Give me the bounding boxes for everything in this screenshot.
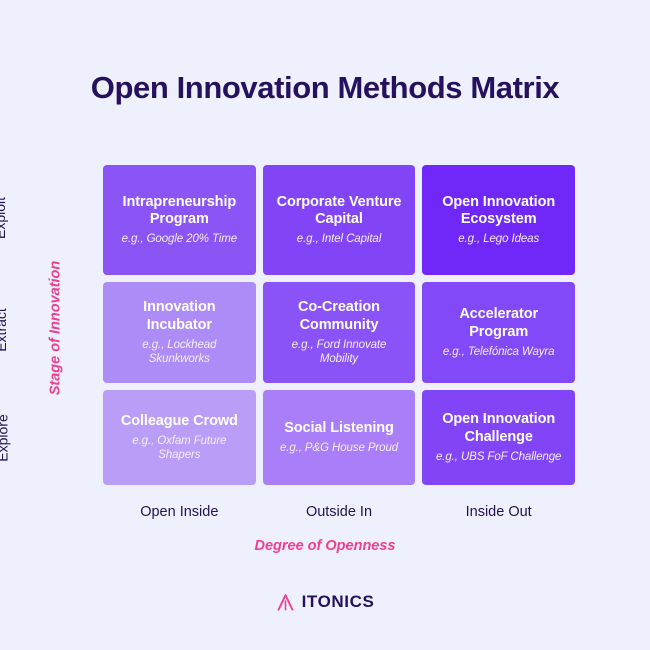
cell-example: e.g., Google 20% Time — [122, 232, 237, 246]
y-axis-tick-exploit: Exploit — [0, 197, 8, 239]
y-axis-tick-explore: Explore — [0, 414, 11, 461]
x-axis-ticks: Open Inside Outside In Inside Out — [103, 504, 575, 520]
brand-logo: ITONICS — [0, 592, 650, 612]
cell-example: e.g., Ford Innovate Mobility — [273, 338, 406, 366]
cell-title: Innovation Incubator — [113, 299, 246, 334]
cell-title: Co-Creation Community — [273, 299, 406, 334]
y-axis-tick-extract: Extract — [0, 308, 9, 352]
x-axis-tick-outside-in: Outside In — [263, 504, 416, 520]
cell-example: e.g., Telefónica Wayra — [443, 345, 555, 359]
x-axis-tick-inside-out: Inside Out — [422, 504, 575, 520]
cell-title: Social Listening — [284, 420, 394, 438]
matrix-cell-exploit-open-inside[interactable]: Intrapreneurship Program e.g., Google 20… — [103, 165, 256, 275]
matrix-cell-extract-inside-out[interactable]: Accelerator Program e.g., Telefónica Way… — [422, 282, 575, 383]
cell-title: Accelerator Program — [432, 306, 565, 341]
cell-example: e.g., UBS FoF Challenge — [436, 450, 561, 464]
matrix-grid: Intrapreneurship Program e.g., Google 20… — [103, 165, 575, 481]
matrix-cell-extract-open-inside[interactable]: Innovation Incubator e.g., Lockhead Skun… — [103, 282, 256, 383]
matrix-cell-extract-outside-in[interactable]: Co-Creation Community e.g., Ford Innovat… — [263, 282, 416, 383]
matrix-chart: Intrapreneurship Program e.g., Google 20… — [103, 165, 575, 481]
cell-example: e.g., Lego Ideas — [458, 232, 539, 246]
x-axis-title: Degree of Openness — [0, 538, 650, 554]
matrix-cell-exploit-inside-out[interactable]: Open Innovation Ecosystem e.g., Lego Ide… — [422, 165, 575, 275]
cell-title: Open Innovation Challenge — [432, 411, 565, 446]
cell-title: Corporate Venture Capital — [273, 194, 406, 229]
itonics-triangle-icon — [276, 593, 295, 612]
matrix-cell-explore-outside-in[interactable]: Social Listening e.g., P&G House Proud — [263, 390, 416, 485]
y-axis-title: Stage of Innovation — [47, 261, 63, 396]
cell-example: e.g., Oxfam Future Shapers — [113, 434, 246, 462]
cell-example: e.g., Lockhead Skunkworks — [113, 338, 246, 366]
page-title: Open Innovation Methods Matrix — [0, 70, 650, 106]
cell-title: Open Innovation Ecosystem — [432, 194, 565, 229]
x-axis-tick-open-inside: Open Inside — [103, 504, 256, 520]
matrix-cell-exploit-outside-in[interactable]: Corporate Venture Capital e.g., Intel Ca… — [263, 165, 416, 275]
cell-title: Intrapreneurship Program — [113, 194, 246, 229]
cell-example: e.g., P&G House Proud — [280, 441, 398, 455]
cell-example: e.g., Intel Capital — [297, 232, 381, 246]
matrix-cell-explore-inside-out[interactable]: Open Innovation Challenge e.g., UBS FoF … — [422, 390, 575, 485]
cell-title: Colleague Crowd — [121, 413, 238, 431]
matrix-cell-explore-open-inside[interactable]: Colleague Crowd e.g., Oxfam Future Shape… — [103, 390, 256, 485]
logo-text: ITONICS — [302, 592, 375, 612]
